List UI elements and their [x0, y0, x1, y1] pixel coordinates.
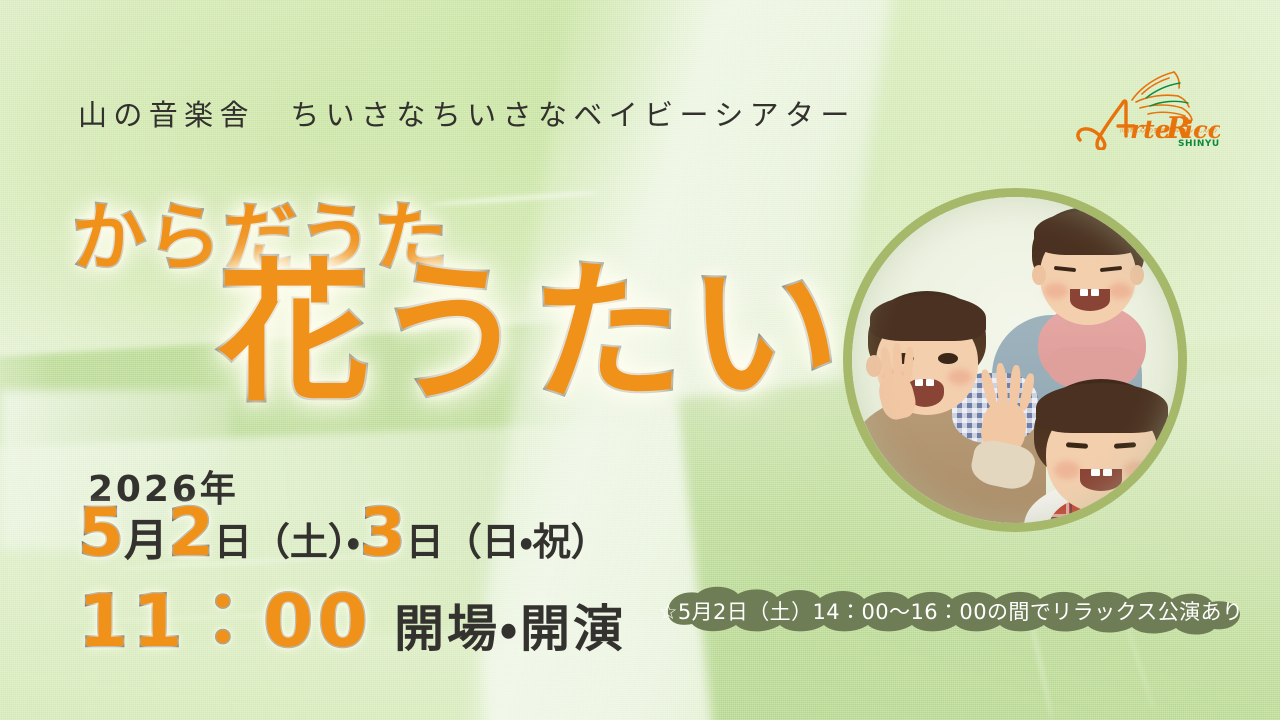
date-month-number: 5: [78, 494, 124, 571]
time-label: 開場・開演: [394, 600, 626, 658]
baby-photo-circle: [843, 188, 1187, 532]
relax-performance-banner: ☆5月2日（土）14：00～16：00の間でリラックス公演あり: [646, 586, 1256, 636]
date-day2-kanji: 日（日・祝）: [406, 520, 609, 564]
brush-streak-4: [1125, 623, 1156, 710]
poster-canvas: 山の音楽舎 ちいさなちいさなベイビーシアター: [0, 0, 1280, 720]
date-line: 5月2日（土）・3日（日・祝）: [78, 500, 609, 566]
date-day1-kanji: 日（土）・: [214, 520, 360, 564]
date-day2-number: 3: [360, 494, 406, 571]
brush-streak-1: [430, 190, 600, 207]
arte-ricca-logo: rte R icca SHINYURI: [1070, 64, 1220, 150]
date-month-kanji: 月: [124, 515, 168, 566]
time-value: 11：00: [78, 579, 372, 663]
baby-photo-image: [852, 197, 1178, 523]
date-day1-number: 2: [168, 494, 214, 571]
logo-mark-icon: rte R icca SHINYURI: [1070, 64, 1220, 150]
subheader-text: 山の音楽舎 ちいさなちいさなベイビーシアター: [78, 92, 856, 134]
time-line: 11：00開場・開演: [78, 585, 626, 657]
relax-note-text: ☆5月2日（土）14：00～16：00の間でリラックス公演あり: [646, 586, 1256, 636]
logo-tagline: 川崎市しんゆり芸術祭 アルテリッカしんゆり: [1120, 127, 1217, 134]
svg-text:SHINYURI: SHINYURI: [1178, 139, 1220, 149]
title-large: 花うたい: [218, 258, 844, 410]
